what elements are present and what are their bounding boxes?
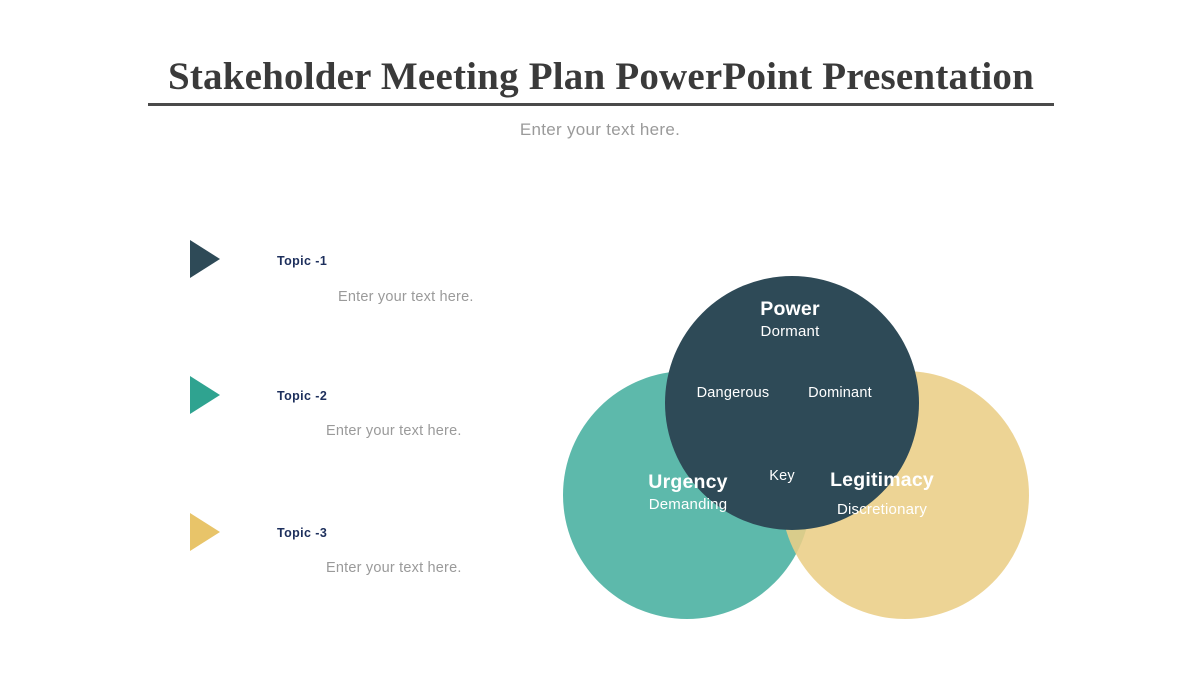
venn-diagram: Power Dormant Urgency Demanding Legitima… [560,185,1030,635]
topic-description: Enter your text here. [326,560,462,576]
topic-label: Topic -2 [277,389,327,403]
topic-description: Enter your text here. [326,423,462,439]
page-title: Stakeholder Meeting Plan PowerPoint Pres… [148,54,1054,100]
play-triangle-icon [190,376,220,414]
title-block: Stakeholder Meeting Plan PowerPoint Pres… [148,54,1054,106]
topic-label: Topic -3 [277,526,327,540]
page-subtitle: Enter your text here. [0,120,1200,140]
venn-shapes [560,185,1030,635]
topic-description: Enter your text here. [338,289,474,305]
play-triangle-icon [190,240,220,278]
title-underline-rule [148,103,1054,106]
play-triangle-icon [190,513,220,551]
venn-circle-power[interactable] [665,276,919,530]
topic-label: Topic -1 [277,254,327,268]
slide-canvas: Stakeholder Meeting Plan PowerPoint Pres… [0,0,1200,675]
